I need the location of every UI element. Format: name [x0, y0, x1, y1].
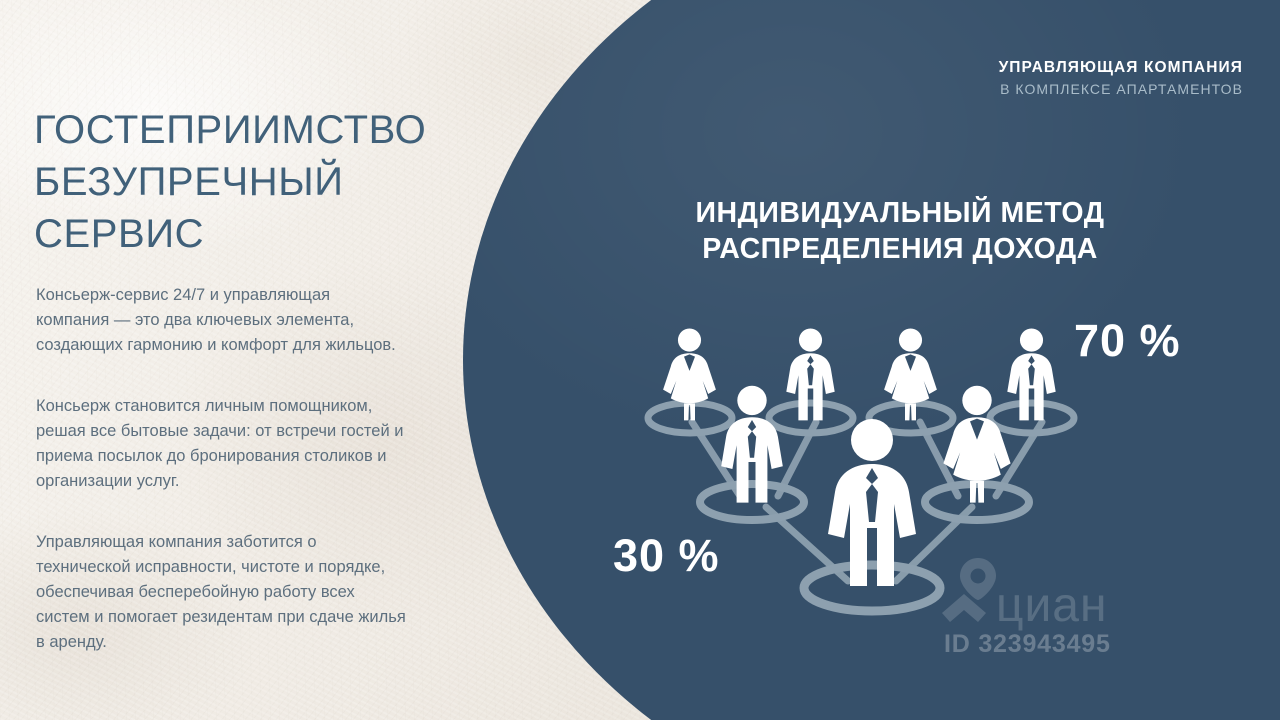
body-paragraph-3: Управляющая компания заботится о техниче… — [36, 530, 406, 655]
company-name: УПРАВЛЯЮЩАЯ КОМПАНИЯ — [999, 58, 1243, 79]
page-title: ГОСТЕПРИИМСТВО БЕЗУПРЕЧНЫЙ СЕРВИС — [34, 104, 434, 260]
left-text-column: ГОСТЕПРИИМСТВО БЕЗУПРЕЧНЫЙ СЕРВИС Консье… — [34, 0, 434, 720]
body-paragraph-1: Консьерж-сервис 24/7 и управляющая компа… — [36, 283, 406, 358]
slide-canvas: ГОСТЕПРИИМСТВО БЕЗУПРЕЧНЫЙ СЕРВИС Консье… — [0, 0, 1280, 720]
company-identity-block: УПРАВЛЯЮЩАЯ КОМПАНИЯ В КОМПЛЕКСЕ АПАРТАМ… — [999, 58, 1243, 100]
body-paragraph-2: Консьерж становится личным помощником, р… — [36, 394, 406, 494]
company-subtitle: В КОМПЛЕКСЕ АПАРТАМЕНТОВ — [999, 80, 1243, 100]
diagram-svg — [600, 300, 1160, 630]
org-hierarchy-diagram — [600, 300, 1160, 630]
section-title: ИНДИВИДУАЛЬНЫЙ МЕТОД РАСПРЕДЕЛЕНИЯ ДОХОД… — [600, 196, 1200, 268]
